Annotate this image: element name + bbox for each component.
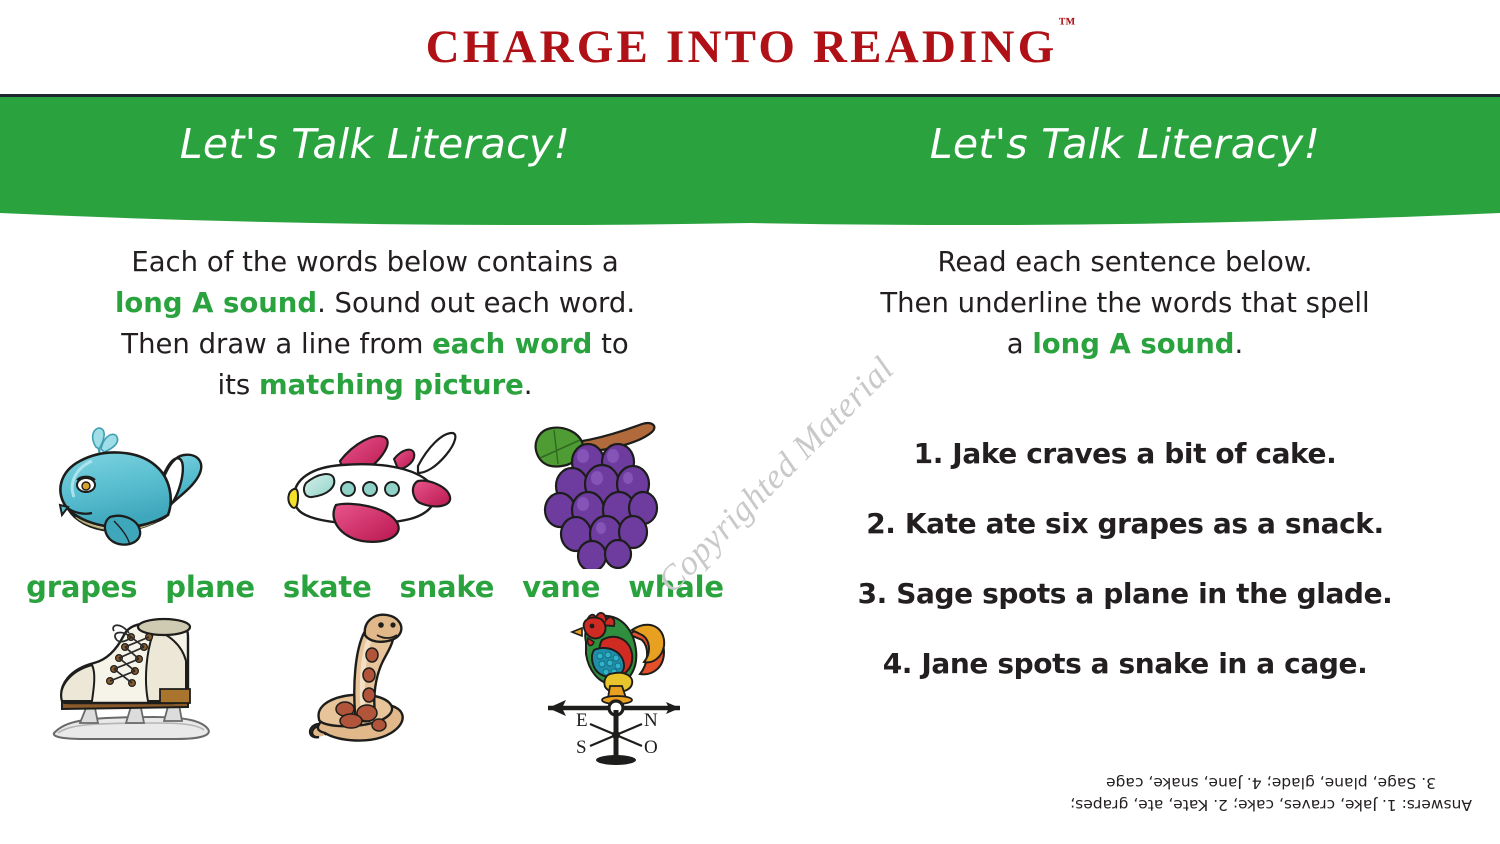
plane-icon (278, 421, 473, 561)
sentence-item-4[interactable]: 4. Jane spots a snake in a cage. (784, 647, 1466, 680)
instr-line1: Each of the words below contains a (131, 246, 618, 278)
grapes-icon (530, 414, 705, 569)
snake-icon (293, 609, 458, 757)
sentence-list: 1. Jake craves a bit of cake. 2. Kate at… (750, 437, 1500, 680)
instr-line3-start: Then draw a line from (121, 328, 432, 360)
word-snake[interactable]: snake (400, 570, 495, 604)
instr-line3-end: to (592, 328, 628, 360)
sentence-item-3[interactable]: 3. Sage spots a plane in the glade. (784, 577, 1466, 610)
picture-cell-vane[interactable]: E S N O (519, 608, 715, 758)
sentence-item-2[interactable]: 2. Kate ate six grapes as a snack. (784, 507, 1466, 540)
banner-title-right: Let's Talk Literacy! (750, 120, 1500, 168)
instr-highlight-long-a: long A sound (115, 287, 317, 319)
instr-line2-rest: . Sound out each word. (317, 287, 635, 319)
instr-highlight-each-word: each word (432, 328, 592, 360)
skate-icon (36, 611, 231, 756)
instr-highlight-matching-picture: matching picture (259, 369, 524, 401)
whale-icon (38, 419, 228, 564)
picture-cell-skate[interactable] (35, 608, 231, 758)
answer-key-line-2: 3. Sage, plane, glade; 4. Jane, snake, c… (1070, 772, 1472, 794)
instr-line4-start: its (217, 369, 259, 401)
right-instr-line2: Then underline the words that spell (880, 287, 1369, 319)
picture-cell-plane[interactable] (277, 416, 473, 566)
picture-cell-whale[interactable] (35, 416, 231, 566)
compass-letter-east: E (576, 710, 588, 731)
right-panel: Read each sentence below. Then underline… (750, 230, 1500, 844)
picture-cell-snake[interactable] (277, 608, 473, 758)
right-instructions: Read each sentence below. Then underline… (750, 242, 1500, 365)
right-instr-line3-end: . (1234, 328, 1243, 360)
word-plane[interactable]: plane (165, 570, 255, 604)
answer-key: Answers: 1. Jake, craves, cake; 2. Kate,… (1070, 772, 1472, 816)
word-skate[interactable]: skate (283, 570, 372, 604)
banner-title-left: Let's Talk Literacy! (0, 120, 750, 168)
green-banner: Let's Talk Literacy! Let's Talk Literacy… (0, 94, 1500, 230)
answer-key-line-1: Answers: 1. Jake, craves, cake; 2. Kate,… (1070, 794, 1472, 816)
compass-letter-north: N (644, 710, 658, 731)
right-instr-line1: Read each sentence below. (937, 246, 1312, 278)
brand-title-text: CHARGE INTO READING (426, 21, 1058, 73)
left-panel: Each of the words below contains a long … (0, 230, 750, 844)
trademark-symbol: ™ (1058, 14, 1075, 33)
instr-line4-end: . (524, 369, 533, 401)
picture-row-top (0, 416, 750, 566)
picture-row-bottom: E S N O (0, 608, 750, 758)
page-title: CHARGE INTO READING™ (426, 20, 1075, 74)
brand-header: CHARGE INTO READING™ (0, 0, 1500, 94)
worksheet-page: CHARGE INTO READING™ Let's Talk Literacy… (0, 0, 1500, 844)
right-instr-highlight-long-a: long A sound (1032, 328, 1234, 360)
compass-letter-west: O (644, 737, 658, 758)
picture-cell-grapes[interactable] (519, 416, 715, 566)
compass-letter-south: S (576, 737, 587, 758)
right-instr-line3-start: a (1007, 328, 1033, 360)
vane-icon: E S N O (532, 598, 702, 768)
sentence-item-1[interactable]: 1. Jake craves a bit of cake. (784, 437, 1466, 470)
left-instructions: Each of the words below contains a long … (0, 242, 750, 406)
word-grapes[interactable]: grapes (26, 570, 137, 604)
